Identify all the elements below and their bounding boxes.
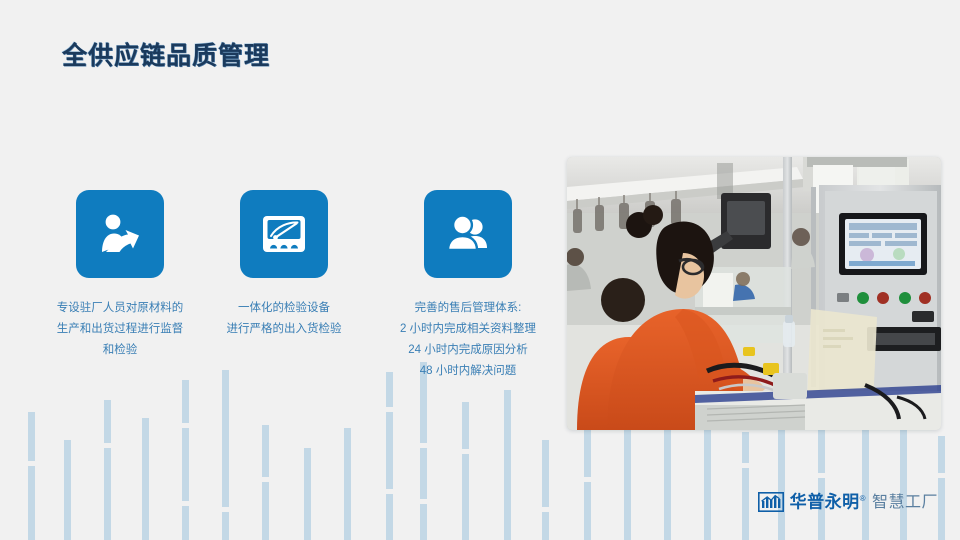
logo-suffix-text: 智慧工厂	[872, 494, 938, 512]
brand-logo: 华普永明® 智慧工厂	[758, 490, 938, 512]
feature-line: 专设驻厂人员对原材料的	[32, 298, 208, 319]
pattern-bar	[742, 432, 749, 540]
factory-bars-logo-icon	[758, 492, 784, 512]
pattern-bar	[420, 362, 427, 540]
feature-line: 生产和出货过程进行监督	[32, 319, 208, 340]
pattern-bar-notch	[420, 443, 427, 448]
pattern-bar-notch	[104, 443, 111, 448]
factory-production-line-photo	[567, 157, 941, 430]
feature-line: 2 小时内完成相关资料整理	[378, 319, 558, 340]
pattern-bar	[304, 448, 311, 540]
pattern-bar	[262, 425, 269, 540]
two-users-icon	[424, 190, 512, 278]
pattern-bar	[462, 402, 469, 540]
logo-registered-mark: ®	[860, 494, 866, 503]
pattern-bar	[64, 440, 71, 540]
pattern-bar	[344, 428, 351, 540]
pattern-bar-notch	[182, 423, 189, 428]
pattern-bar-notch	[28, 461, 35, 466]
pattern-bar	[28, 412, 35, 540]
pattern-bar-notch	[462, 449, 469, 454]
feature-description: 一体化的检验设备 进行严格的出入货检验	[196, 298, 372, 340]
pattern-bar	[142, 418, 149, 540]
slide-canvas: 全供应链品质管理 专设驻厂人员对原材料的 生产和出货过程进行监督 和检验	[0, 0, 960, 540]
pattern-bar-notch	[386, 489, 393, 494]
pattern-bar-notch	[182, 501, 189, 506]
pattern-bar-notch	[420, 499, 427, 504]
person-reading-document-icon	[76, 190, 164, 278]
logo-brand-name: 华普永明®	[790, 490, 866, 512]
feature-line: 完善的售后管理体系:	[378, 298, 558, 319]
feature-block-inspection-equipment: 一体化的检验设备 进行严格的出入货检验	[196, 190, 372, 340]
pattern-bar-notch	[222, 507, 229, 512]
pattern-bar-notch	[584, 477, 591, 482]
pattern-bar-notch	[818, 473, 825, 478]
pattern-bar	[386, 372, 393, 540]
feature-description: 专设驻厂人员对原材料的 生产和出货过程进行监督 和检验	[32, 298, 208, 361]
pattern-bar-notch	[262, 477, 269, 482]
page-title: 全供应链品质管理	[62, 36, 270, 72]
pattern-bar	[222, 370, 229, 540]
feature-line: 48 小时内解决问题	[378, 361, 558, 382]
gauge-meter-icon	[240, 190, 328, 278]
feature-description: 完善的售后管理体系: 2 小时内完成相关资料整理 24 小时内完成原因分析 48…	[378, 298, 558, 382]
feature-line: 一体化的检验设备	[196, 298, 372, 319]
feature-line: 和检验	[32, 340, 208, 361]
pattern-bar-notch	[386, 407, 393, 412]
feature-block-inspection-staff: 专设驻厂人员对原材料的 生产和出货过程进行监督 和检验	[32, 190, 208, 361]
pattern-bar	[704, 420, 711, 540]
pattern-bar	[938, 436, 945, 540]
pattern-bar	[900, 422, 907, 540]
pattern-bar-notch	[742, 463, 749, 468]
pattern-bar-notch	[542, 507, 549, 512]
pattern-bar	[104, 400, 111, 540]
logo-brand-text: 华普永明	[790, 493, 860, 512]
feature-block-after-sales: 完善的售后管理体系: 2 小时内完成相关资料整理 24 小时内完成原因分析 48…	[378, 190, 558, 382]
pattern-bar-notch	[938, 473, 945, 478]
pattern-bar	[542, 440, 549, 540]
feature-line: 进行严格的出入货检验	[196, 319, 372, 340]
pattern-bar	[504, 390, 511, 540]
pattern-bar	[182, 380, 189, 540]
feature-line: 24 小时内完成原因分析	[378, 340, 558, 361]
